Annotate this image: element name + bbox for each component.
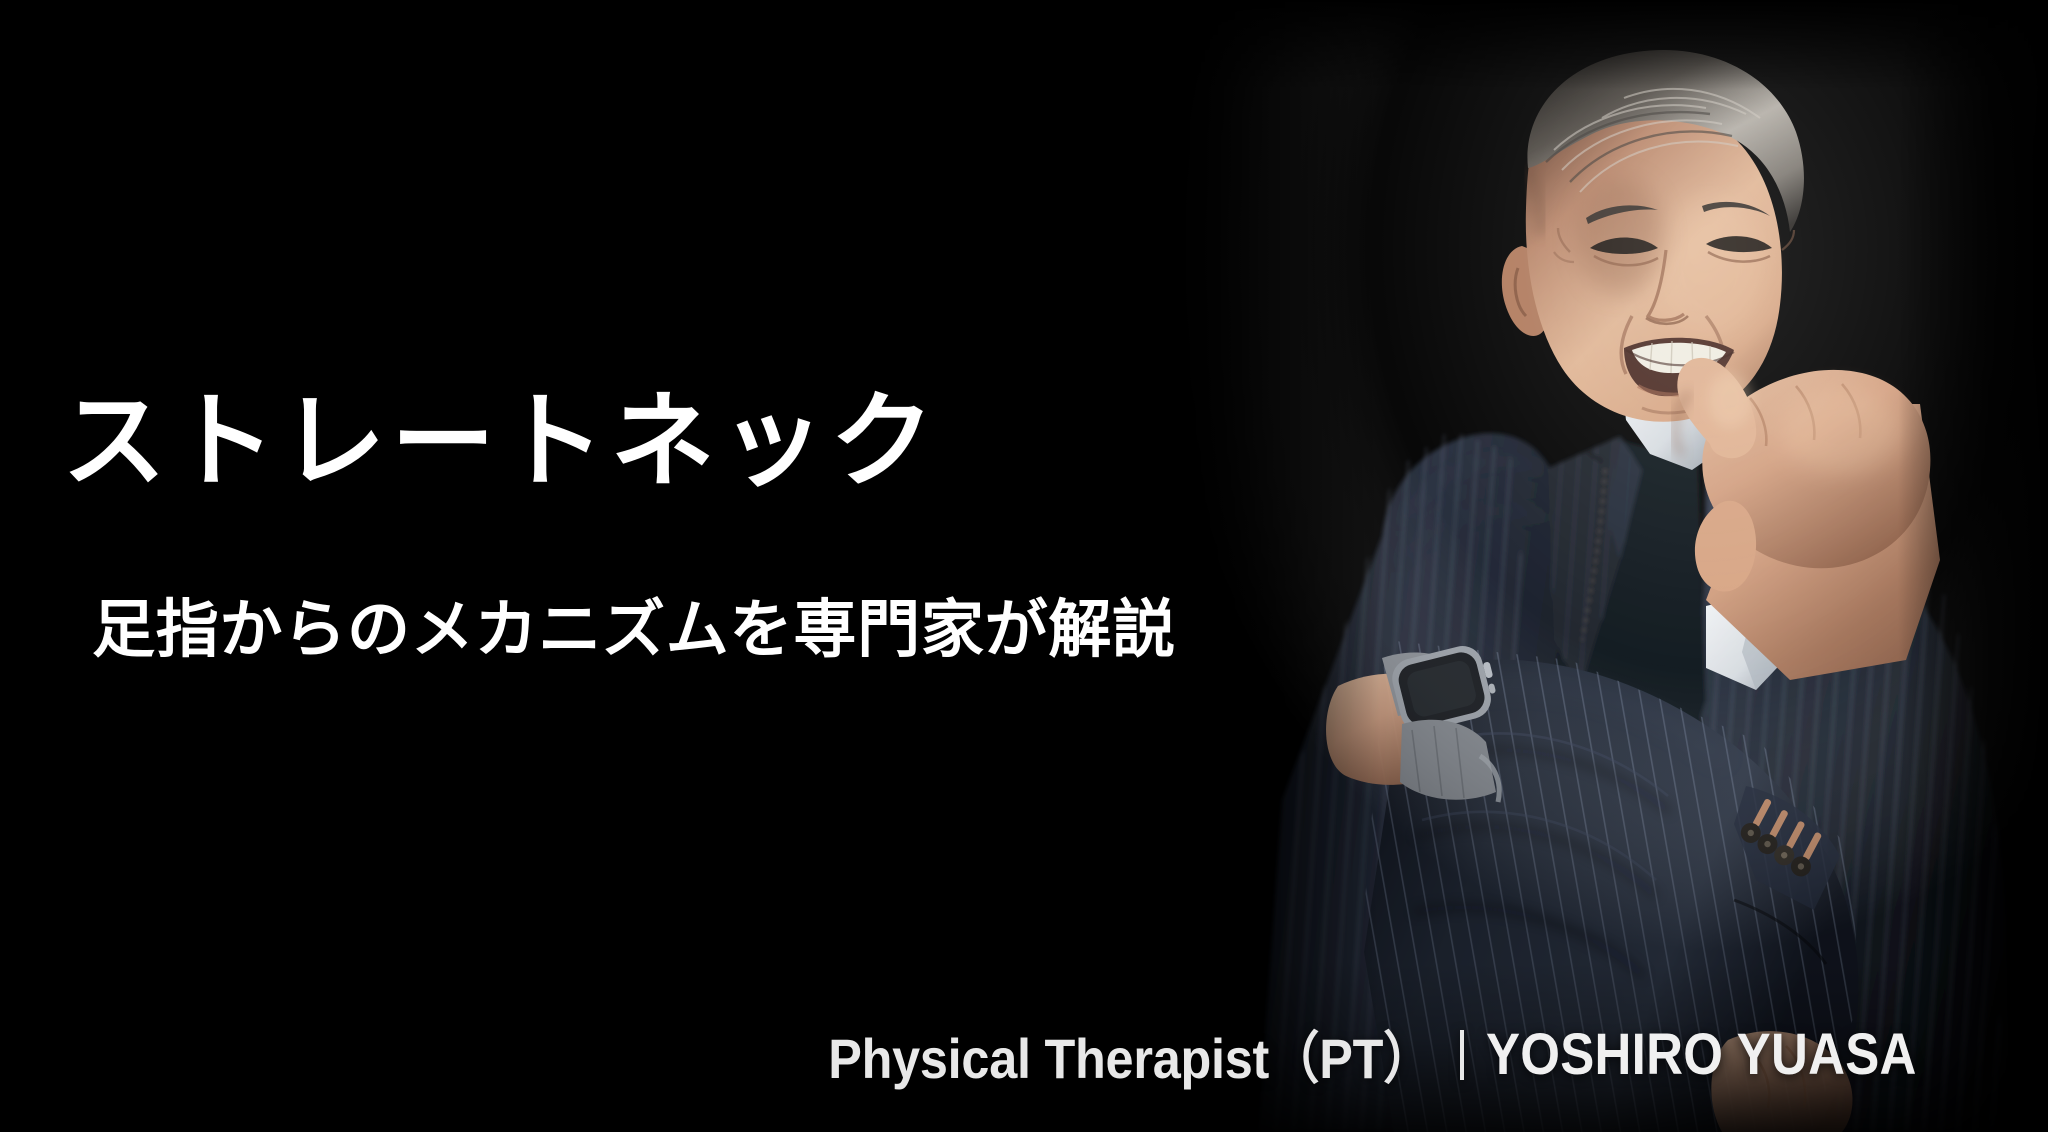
headline-title: ストレートネック [62,388,940,496]
credit-separator-bar [1460,1030,1464,1080]
portrait-photo [1150,0,2048,1132]
portrait-illustration [1150,0,2048,1132]
key-light-overlay [1150,0,2048,1132]
credit-role: Physical Therapist（PT） [829,1014,1434,1095]
credit-person-name: YOSHIRO YUASA [1486,1021,1917,1088]
subheadline-text: 足指からのメカニズムを専門家が解説 [92,596,1176,665]
credit-line: Physical Therapist（PT） YOSHIRO YUASA [0,1014,1975,1095]
thumbnail-canvas: ストレートネック 足指からのメカニズムを専門家が解説 Physical Ther… [0,0,2048,1132]
